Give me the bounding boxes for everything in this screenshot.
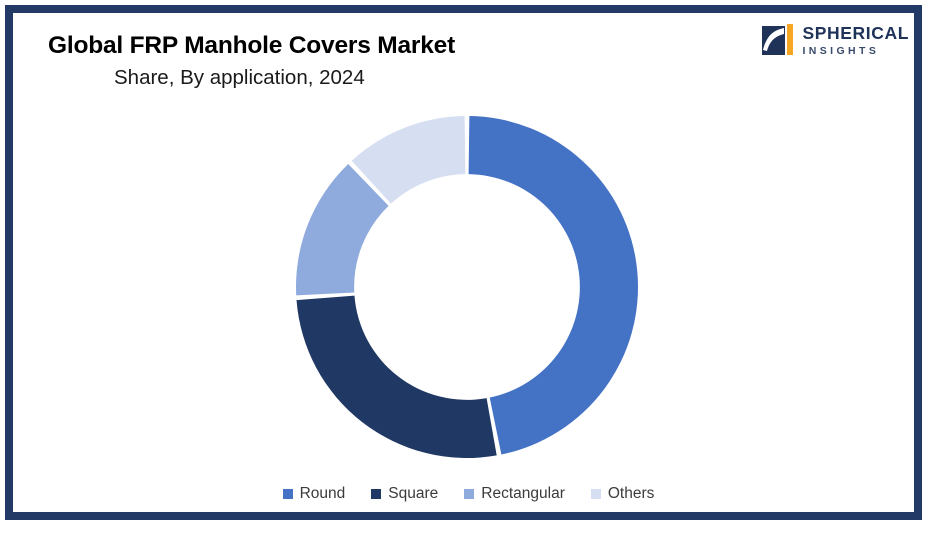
legend-item-rectangular[interactable]: Rectangular	[464, 486, 565, 502]
legend-label: Square	[388, 486, 438, 502]
logo-tagline: INSIGHTS	[802, 46, 909, 57]
logo-text: SPHERICAL INSIGHTS	[802, 25, 909, 57]
legend-item-square[interactable]: Square	[371, 486, 438, 502]
legend-swatch-icon	[464, 489, 474, 499]
brand-logo: SPHERICAL INSIGHTS	[762, 24, 909, 57]
legend-label: Rectangular	[481, 486, 565, 502]
legend-item-others[interactable]: Others	[591, 486, 655, 502]
legend-swatch-icon	[371, 489, 381, 499]
legend-item-round[interactable]: Round	[283, 486, 346, 502]
chart-subtitle: Share, By application, 2024	[114, 66, 608, 90]
chart-legend: RoundSquareRectangularOthers	[0, 486, 937, 502]
spherical-logo-icon	[762, 24, 795, 57]
legend-label: Others	[608, 486, 655, 502]
legend-label: Round	[300, 486, 346, 502]
title-block: Global FRP Manhole Covers Market Share, …	[48, 32, 608, 90]
logo-name: SPHERICAL	[802, 25, 909, 43]
legend-swatch-icon	[283, 489, 293, 499]
page-title: Global FRP Manhole Covers Market	[48, 32, 608, 60]
legend-swatch-icon	[591, 489, 601, 499]
